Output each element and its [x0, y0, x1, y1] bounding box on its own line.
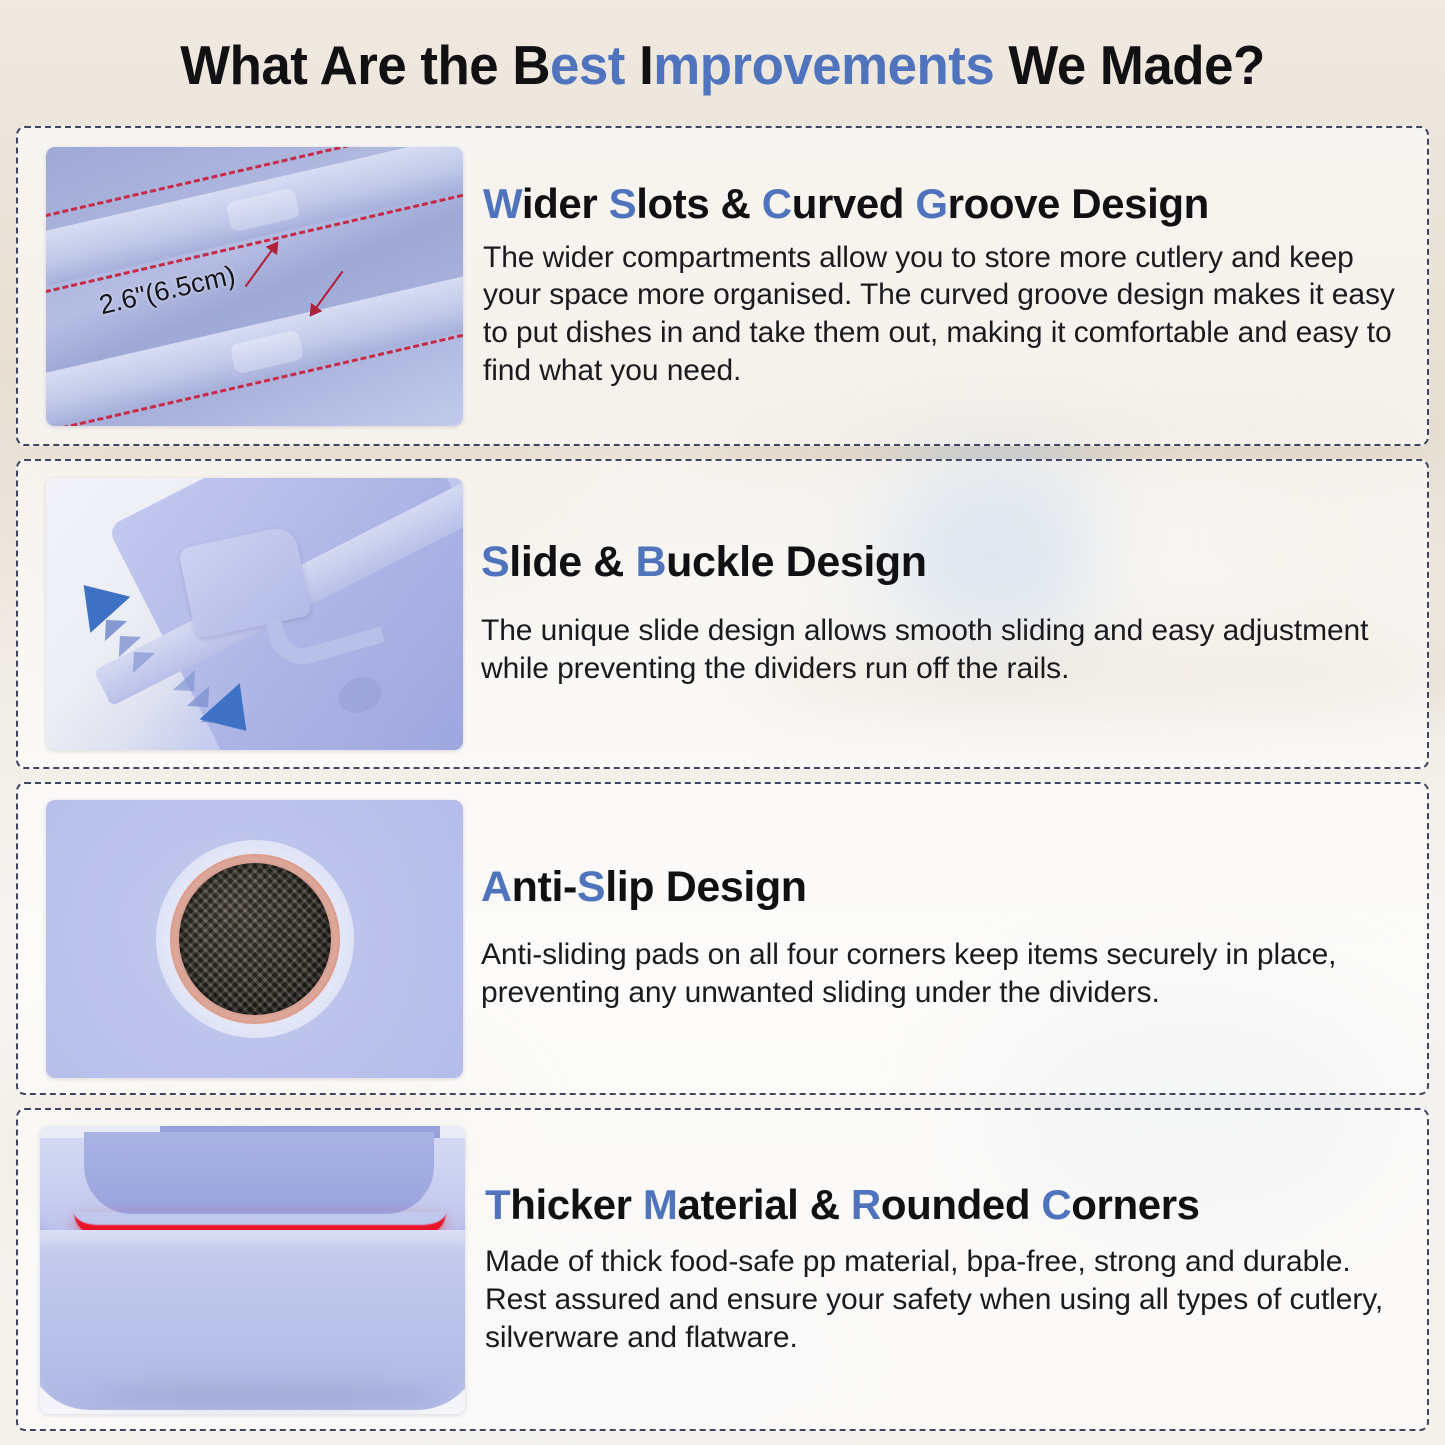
tray-interior	[84, 1132, 434, 1214]
feature-body-wider-slots: The wider compartments allow you to stor…	[483, 239, 1403, 390]
tray-shadow	[100, 1382, 430, 1406]
measure-arrow-down-icon	[315, 270, 344, 308]
feature-body-thicker-material: Made of thick food-safe pp material, bpa…	[485, 1243, 1403, 1356]
page-title: What Are the Best Improvements We Made?	[29, 33, 1416, 97]
feature-image-thicker-material	[40, 1126, 465, 1414]
feature-title-wider-slots: Wider Slots & Curved Groove Design	[483, 182, 1403, 227]
feature-copy-anti-slip: Anti-Slip Design Anti-sliding pads on al…	[463, 865, 1427, 1012]
measure-arrow-up-icon	[245, 248, 274, 286]
feature-body-slide-buckle: The unique slide design allows smooth sl…	[481, 612, 1403, 688]
feature-copy-wider-slots: Wider Slots & Curved Groove Design The w…	[463, 182, 1427, 390]
feature-body-anti-slip: Anti-sliding pads on all four corners ke…	[481, 936, 1403, 1012]
feature-image-slide-buckle	[46, 478, 463, 750]
feature-title-anti-slip: Anti-Slip Design	[481, 865, 1403, 911]
feature-copy-thicker-material: Thicker Material & Rounded Corners Made …	[465, 1183, 1427, 1357]
feature-card-slide-buckle: Slide & Buckle Design The unique slide d…	[16, 459, 1429, 769]
anti-slip-pad	[179, 863, 331, 1015]
feature-title-slide-buckle: Slide & Buckle Design	[481, 540, 1403, 586]
feature-title-thicker-material: Thicker Material & Rounded Corners	[485, 1183, 1403, 1228]
feature-card-thicker-material: Thicker Material & Rounded Corners Made …	[16, 1108, 1429, 1431]
feature-card-anti-slip: Anti-Slip Design Anti-sliding pads on al…	[16, 782, 1429, 1095]
feature-copy-slide-buckle: Slide & Buckle Design The unique slide d…	[463, 540, 1427, 687]
feature-image-anti-slip	[46, 800, 463, 1078]
feature-card-wider-slots: 2.6"(6.5cm) Wider Slots & Curved Groove …	[16, 126, 1429, 446]
feature-image-wider-slots: 2.6"(6.5cm)	[46, 147, 463, 426]
infographic-page: What Are the Best Improvements We Made? …	[0, 0, 1445, 1445]
